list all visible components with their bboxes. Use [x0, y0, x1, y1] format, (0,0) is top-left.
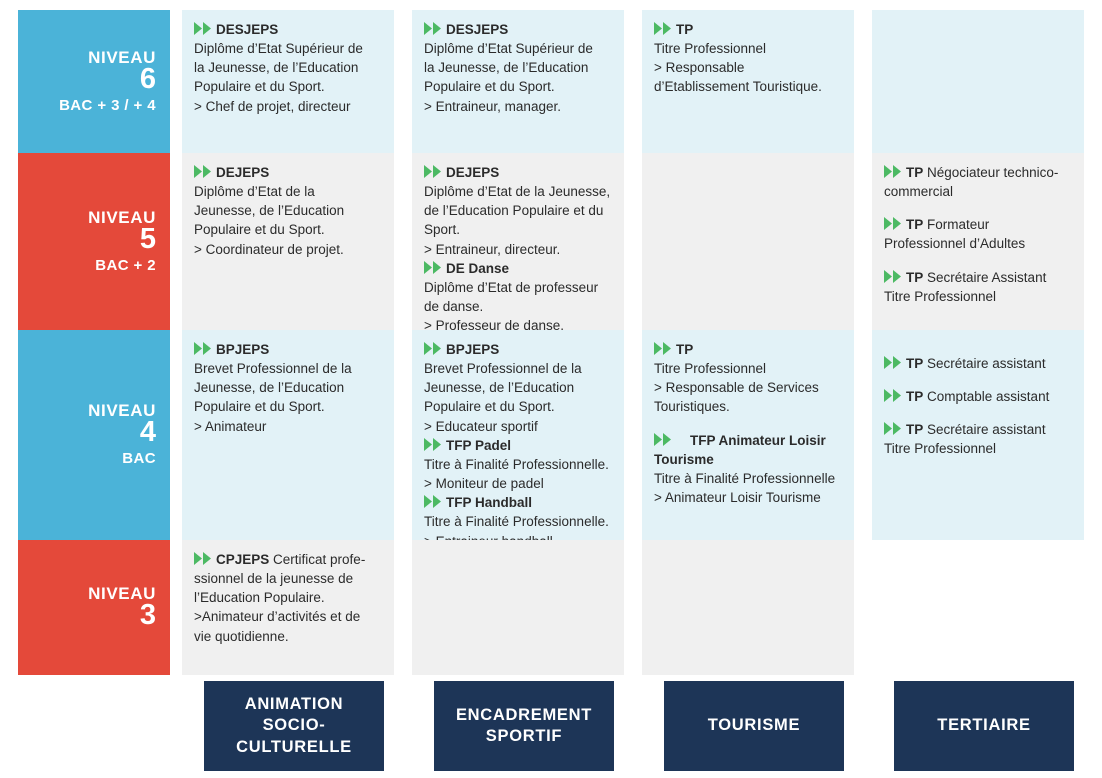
- diploma-title: TP: [884, 389, 923, 404]
- diploma-entry[interactable]: TPTitre Professionnel> Responsabled’Etab…: [654, 20, 842, 97]
- level-sublabel: BAC + 2: [95, 258, 156, 275]
- diploma-title-text: DEJEPS: [446, 165, 499, 180]
- diploma-cell[interactable]: TPTitre Professionnel> Responsabled’Etab…: [642, 10, 854, 153]
- double-chevron-right-icon: [884, 270, 904, 283]
- diploma-cell[interactable]: [642, 540, 854, 675]
- diploma-description-line: Diplôme d’Etat de professeur: [424, 278, 612, 297]
- diploma-description: Diplôme d’Etat Supérieur dela Jeunesse, …: [424, 39, 612, 116]
- diploma-description-line: Diplôme d’Etat de la Jeunesse,: [424, 182, 612, 201]
- diploma-entry[interactable]: TP Secrétaire assistantTitre Professionn…: [884, 420, 1072, 458]
- diploma-description-line: Brevet Professionnel de la: [194, 359, 382, 378]
- diploma-description: Professionnel d’Adultes: [884, 234, 1072, 253]
- diploma-title: DEJEPS: [424, 163, 612, 182]
- diploma-description-line: Populaire et du Sport.: [194, 220, 382, 239]
- diploma-title: TP: [884, 356, 923, 371]
- level-band-5: NIVEAU5BAC + 2: [18, 153, 170, 330]
- double-chevron-right-icon: [194, 165, 214, 178]
- filiere-label-3[interactable]: TOURISME: [664, 681, 844, 771]
- diploma-title-suffix: Secrétaire assistant: [923, 356, 1045, 371]
- diploma-title: DESJEPS: [194, 20, 382, 39]
- double-chevron-right-icon: [654, 342, 674, 355]
- diploma-description: Titre Professionnel> Responsable de Serv…: [654, 359, 842, 416]
- diploma-description-line: Populaire et du Sport.: [194, 77, 382, 96]
- qualification-levels-chart: NIVEAU6BAC + 3 / + 4NIVEAU5BAC + 2NIVEAU…: [0, 0, 1102, 778]
- diploma-description-line: Titre Professionnel: [654, 359, 842, 378]
- diploma-description-line: Populaire et du Sport.: [424, 397, 612, 416]
- diploma-description-line: Touristiques.: [654, 397, 842, 416]
- diploma-entry[interactable]: TP Négociateur technico-commercial: [884, 163, 1072, 201]
- level-number: 6: [140, 65, 156, 94]
- diploma-title-text: BPJEPS: [216, 342, 269, 357]
- double-chevron-right-icon: [424, 342, 444, 355]
- level-band-3: NIVEAU3: [18, 540, 170, 675]
- diploma-description: Diplôme d’Etat de la Jeunesse,de l’Educa…: [424, 182, 612, 259]
- diploma-title-text: DESJEPS: [216, 22, 278, 37]
- diploma-entry[interactable]: TP FormateurProfessionnel d’Adultes: [884, 215, 1072, 253]
- diploma-entry[interactable]: TP Secrétaire assistant: [884, 354, 1072, 373]
- diploma-title: TP: [884, 217, 923, 232]
- diploma-description: Titre Professionnel> Responsabled’Etabli…: [654, 39, 842, 96]
- diploma-description: Brevet Professionnel de laJeunesse, de l…: [194, 359, 382, 436]
- diploma-description-line: Diplôme d’Etat Supérieur de: [424, 39, 612, 58]
- diploma-title: TFP Handball: [424, 493, 612, 512]
- diploma-description-line: > Entraineur handball: [424, 532, 612, 540]
- diploma-entry[interactable]: TFP Animateur Loisir TourismeTitre à Fin…: [654, 431, 842, 508]
- diploma-title-text: TP: [906, 422, 923, 437]
- diploma-title: TFP Padel: [424, 436, 612, 455]
- diploma-title-text: DE Danse: [446, 261, 509, 276]
- diploma-description: Titre à Finalité Professionnelle.> Entra…: [424, 512, 612, 540]
- double-chevron-right-icon: [194, 342, 214, 355]
- filiere-footer-row: ANIMATION SOCIO-CULTURELLEENCADREMENT SP…: [182, 681, 1102, 773]
- diploma-description-line: Populaire et du Sport.: [424, 77, 612, 96]
- double-chevron-right-icon: [424, 495, 444, 508]
- filiere-label-1[interactable]: ANIMATION SOCIO-CULTURELLE: [204, 681, 384, 771]
- diploma-description-line: ssionnel de la jeunesse de: [194, 569, 382, 588]
- diploma-title: DE Danse: [424, 259, 612, 278]
- diploma-description: Diplôme d’Etat Supérieur dela Jeunesse, …: [194, 39, 382, 116]
- diploma-cell[interactable]: DEJEPSDiplôme d’Etat de laJeunesse, de l…: [182, 153, 394, 330]
- diploma-title-suffix: Secrétaire Assistant: [923, 270, 1046, 285]
- filiere-label-4[interactable]: TERTIAIRE: [894, 681, 1074, 771]
- double-chevron-right-icon: [194, 22, 214, 35]
- diploma-description: Diplôme d’Etat de laJeunesse, de l’Educa…: [194, 182, 382, 259]
- diploma-title-suffix: Comptable assistant: [923, 389, 1049, 404]
- diploma-description: Titre Professionnel: [884, 287, 1072, 306]
- diploma-description-line: Jeunesse, de l’Education: [194, 378, 382, 397]
- diploma-entry[interactable]: TP Comptable assistant: [884, 387, 1072, 406]
- diploma-description-line: > Educateur sportif: [424, 417, 612, 436]
- diploma-cell[interactable]: DEJEPSDiplôme d’Etat de la Jeunesse,de l…: [412, 153, 624, 330]
- filiere-columns: DESJEPSDiplôme d’Etat Supérieur dela Jeu…: [182, 10, 1102, 778]
- diploma-description-line: d’Etablissement Touristique.: [654, 77, 842, 96]
- level-number: 5: [140, 225, 156, 254]
- diploma-description-line: > Responsable: [654, 58, 842, 77]
- double-chevron-right-icon: [424, 22, 444, 35]
- diploma-title-suffix: Formateur: [923, 217, 989, 232]
- diploma-description-line: > Responsable de Services: [654, 378, 842, 397]
- diploma-entry[interactable]: TP Secrétaire AssistantTitre Professionn…: [884, 268, 1072, 306]
- diploma-description-line: la Jeunesse, de l’Education: [194, 58, 382, 77]
- diploma-description-line: de l’Education Populaire et du: [424, 201, 612, 220]
- diploma-description-line: Titre Professionnel: [884, 287, 1072, 306]
- diploma-entry[interactable]: BPJEPSBrevet Professionnel de laJeunesse…: [424, 340, 612, 436]
- diploma-description-line: > Coordinateur de projet.: [194, 240, 382, 259]
- diploma-title-suffix: Négociateur technico-: [923, 165, 1058, 180]
- diploma-description-line: Diplôme d’Etat de la: [194, 182, 382, 201]
- diploma-title-suffix: Certificat profe-: [269, 552, 365, 567]
- double-chevron-right-icon: [884, 389, 904, 402]
- diploma-description-line: > Entraineur, manager.: [424, 97, 612, 116]
- diploma-title: BPJEPS: [424, 340, 612, 359]
- double-chevron-right-icon: [884, 217, 904, 230]
- diploma-title-text: BPJEPS: [446, 342, 499, 357]
- diploma-title: TFP Animateur Loisir Tourisme: [654, 431, 842, 469]
- double-chevron-right-icon: [884, 356, 904, 369]
- diploma-description-line: Jeunesse, de l’Education: [194, 201, 382, 220]
- diploma-cell[interactable]: DESJEPSDiplôme d’Etat Supérieur dela Jeu…: [412, 10, 624, 153]
- diploma-title: BPJEPS: [194, 340, 382, 359]
- diploma-description-line: > Professeur de danse.: [424, 316, 612, 330]
- diploma-description-line: de danse.: [424, 297, 612, 316]
- diploma-description-line: Titre à Finalité Professionnelle.: [424, 512, 612, 531]
- diploma-description-line: Populaire et du Sport.: [194, 397, 382, 416]
- diploma-cell[interactable]: DESJEPSDiplôme d’Etat Supérieur dela Jeu…: [182, 10, 394, 153]
- diploma-entry[interactable]: TPTitre Professionnel> Responsable de Se…: [654, 340, 842, 417]
- diploma-title-text: DESJEPS: [446, 22, 508, 37]
- diploma-title-text: DEJEPS: [216, 165, 269, 180]
- diploma-title: TP: [884, 165, 923, 180]
- diploma-entry[interactable]: TFP HandballTitre à Finalité Professionn…: [424, 493, 612, 540]
- diploma-entry[interactable]: BPJEPSBrevet Professionnel de laJeunesse…: [194, 340, 382, 436]
- diploma-title: TP: [884, 270, 923, 285]
- filiere-label-2[interactable]: ENCADREMENT SPORTIF: [434, 681, 614, 771]
- level-band-4: NIVEAU4BAC: [18, 330, 170, 540]
- diploma-description-line: l’Education Populaire.: [194, 588, 382, 607]
- double-chevron-right-icon: [884, 422, 904, 435]
- diploma-cell[interactable]: BPJEPSBrevet Professionnel de laJeunesse…: [182, 330, 394, 540]
- diploma-title: TP: [654, 20, 842, 39]
- diploma-description-line: Titre Professionnel: [884, 439, 1072, 458]
- diploma-description: Titre Professionnel: [884, 439, 1072, 458]
- level-number: 4: [140, 418, 156, 447]
- diploma-description-line: Titre Professionnel: [654, 39, 842, 58]
- diploma-description: ssionnel de la jeunesse del’Education Po…: [194, 569, 382, 646]
- diploma-description-line: > Animateur Loisir Tourisme: [654, 488, 842, 507]
- diploma-title: DEJEPS: [194, 163, 382, 182]
- diploma-cell[interactable]: CPJEPS Certificat profe-ssionnel de la j…: [182, 540, 394, 675]
- diploma-title-text: TP: [906, 165, 923, 180]
- diploma-cell[interactable]: BPJEPSBrevet Professionnel de laJeunesse…: [412, 330, 624, 540]
- diploma-cell[interactable]: [872, 10, 1084, 153]
- diploma-title-text: TP: [676, 22, 693, 37]
- diploma-entry[interactable]: DEJEPSDiplôme d’Etat de la Jeunesse,de l…: [424, 163, 612, 259]
- diploma-title-text: TP: [906, 356, 923, 371]
- diploma-entry[interactable]: DE DanseDiplôme d’Etat de professeurde d…: [424, 259, 612, 330]
- diploma-entry[interactable]: DESJEPSDiplôme d’Etat Supérieur dela Jeu…: [424, 20, 612, 116]
- diploma-description-line: la Jeunesse, de l’Education: [424, 58, 612, 77]
- diploma-title-text: TP: [906, 217, 923, 232]
- diploma-entry[interactable]: DESJEPSDiplôme d’Etat Supérieur dela Jeu…: [194, 20, 382, 116]
- diploma-description-line: > Entraineur, directeur.: [424, 240, 612, 259]
- diploma-description-line: Diplôme d’Etat Supérieur de: [194, 39, 382, 58]
- diploma-description-line: > Chef de projet, directeur: [194, 97, 382, 116]
- diploma-cell[interactable]: [642, 153, 854, 330]
- diploma-title: CPJEPS: [194, 552, 269, 567]
- diploma-description: Diplôme d’Etat de professeurde danse.> P…: [424, 278, 612, 330]
- double-chevron-right-icon: [654, 433, 674, 446]
- diploma-title-text: TFP Padel: [446, 438, 511, 453]
- diploma-title-suffix: Secrétaire assistant: [923, 422, 1045, 437]
- diploma-description-line: Titre à Finalité Professionnelle.: [424, 455, 612, 474]
- diploma-description-line: vie quotidienne.: [194, 627, 382, 646]
- level-sublabel: BAC: [122, 451, 156, 468]
- diploma-title-text: TFP Handball: [446, 495, 532, 510]
- diploma-cell[interactable]: TP Négociateur technico-commercialTP For…: [872, 153, 1084, 330]
- diploma-cell[interactable]: TPTitre Professionnel> Responsable de Se…: [642, 330, 854, 540]
- diploma-description: Titre à Finalité Professionnelle> Animat…: [654, 469, 842, 507]
- diploma-title-text: CPJEPS: [216, 552, 269, 567]
- diploma-title: TP: [654, 340, 842, 359]
- diploma-description-line: Jeunesse, de l’Education: [424, 378, 612, 397]
- diploma-description-line: commercial: [884, 182, 1072, 201]
- diploma-title: TP: [884, 422, 923, 437]
- diploma-description-line: Brevet Professionnel de la: [424, 359, 612, 378]
- diploma-description: Brevet Professionnel de laJeunesse, de l…: [424, 359, 612, 436]
- double-chevron-right-icon: [884, 165, 904, 178]
- double-chevron-right-icon: [424, 261, 444, 274]
- diploma-title-text: TFP Animateur Loisir Tourisme: [654, 433, 826, 467]
- diploma-entry[interactable]: DEJEPSDiplôme d’Etat de laJeunesse, de l…: [194, 163, 382, 259]
- diploma-description: Titre à Finalité Professionnelle.> Monit…: [424, 455, 612, 493]
- diploma-description-line: Titre à Finalité Professionnelle: [654, 469, 842, 488]
- diploma-entry[interactable]: CPJEPS Certificat profe-ssionnel de la j…: [194, 550, 382, 646]
- diploma-title-text: TP: [906, 270, 923, 285]
- diploma-cell[interactable]: TP Secrétaire assistantTP Comptable assi…: [872, 330, 1084, 540]
- diploma-description: commercial: [884, 182, 1072, 201]
- diploma-description-line: >Animateur d’activités et de: [194, 607, 382, 626]
- diploma-description-line: > Animateur: [194, 417, 382, 436]
- level-band-column: NIVEAU6BAC + 3 / + 4NIVEAU5BAC + 2NIVEAU…: [18, 10, 170, 670]
- double-chevron-right-icon: [424, 438, 444, 451]
- diploma-description-line: Professionnel d’Adultes: [884, 234, 1072, 253]
- diploma-entry[interactable]: TFP PadelTitre à Finalité Professionnell…: [424, 436, 612, 493]
- double-chevron-right-icon: [194, 552, 214, 565]
- diploma-description-line: Sport.: [424, 220, 612, 239]
- double-chevron-right-icon: [654, 22, 674, 35]
- level-band-6: NIVEAU6BAC + 3 / + 4: [18, 10, 170, 153]
- diploma-description-line: > Moniteur de padel: [424, 474, 612, 493]
- level-sublabel: BAC + 3 / + 4: [59, 98, 156, 115]
- diploma-title-text: TP: [676, 342, 693, 357]
- level-number: 3: [140, 601, 156, 630]
- diploma-cell[interactable]: [412, 540, 624, 675]
- diploma-title: DESJEPS: [424, 20, 612, 39]
- double-chevron-right-icon: [424, 165, 444, 178]
- diploma-cell[interactable]: [872, 540, 1084, 675]
- diploma-title-text: TP: [906, 389, 923, 404]
